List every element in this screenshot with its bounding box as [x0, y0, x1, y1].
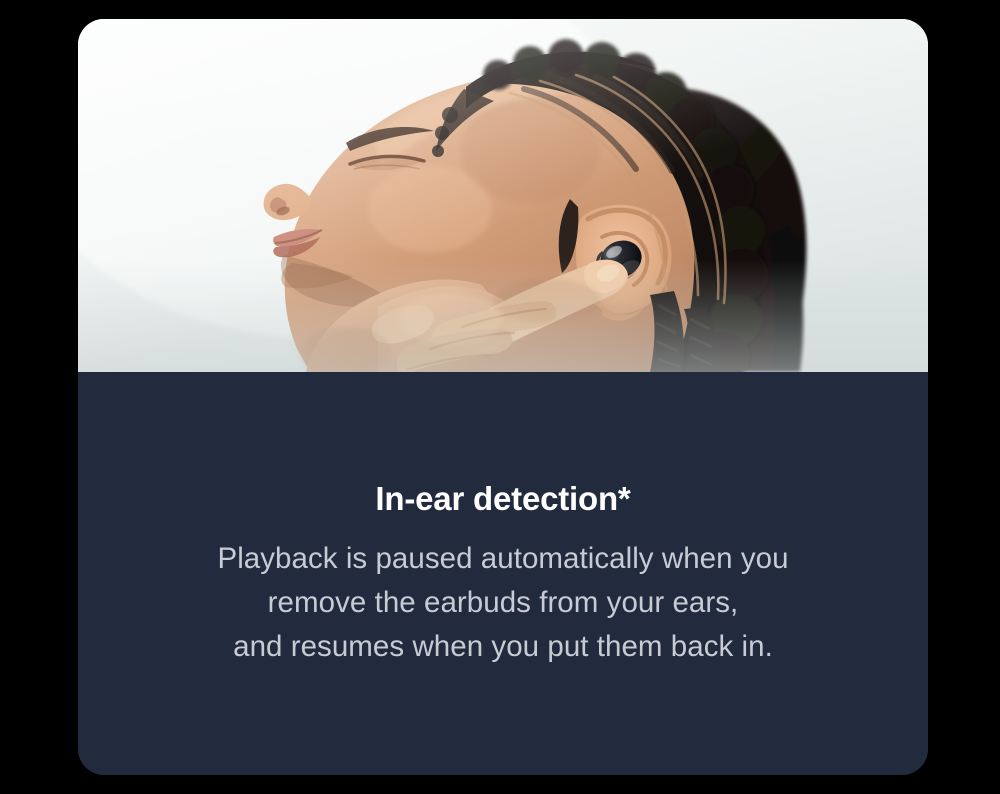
- description-line-3: and resumes when you put them back in.: [78, 625, 928, 669]
- feature-title: In-ear detection*: [78, 481, 928, 518]
- feature-photo: [78, 19, 928, 372]
- page-root: In-ear detection* Playback is paused aut…: [0, 0, 1000, 794]
- in-ear-detection-feature-card: In-ear detection* Playback is paused aut…: [78, 19, 928, 775]
- feature-caption: In-ear detection* Playback is paused aut…: [78, 372, 928, 775]
- feature-description: Playback is paused automatically when yo…: [78, 537, 928, 669]
- description-line-1: Playback is paused automatically when yo…: [78, 537, 928, 581]
- description-line-2: remove the earbuds from your ears,: [78, 581, 928, 625]
- portrait-illustration: [78, 19, 928, 372]
